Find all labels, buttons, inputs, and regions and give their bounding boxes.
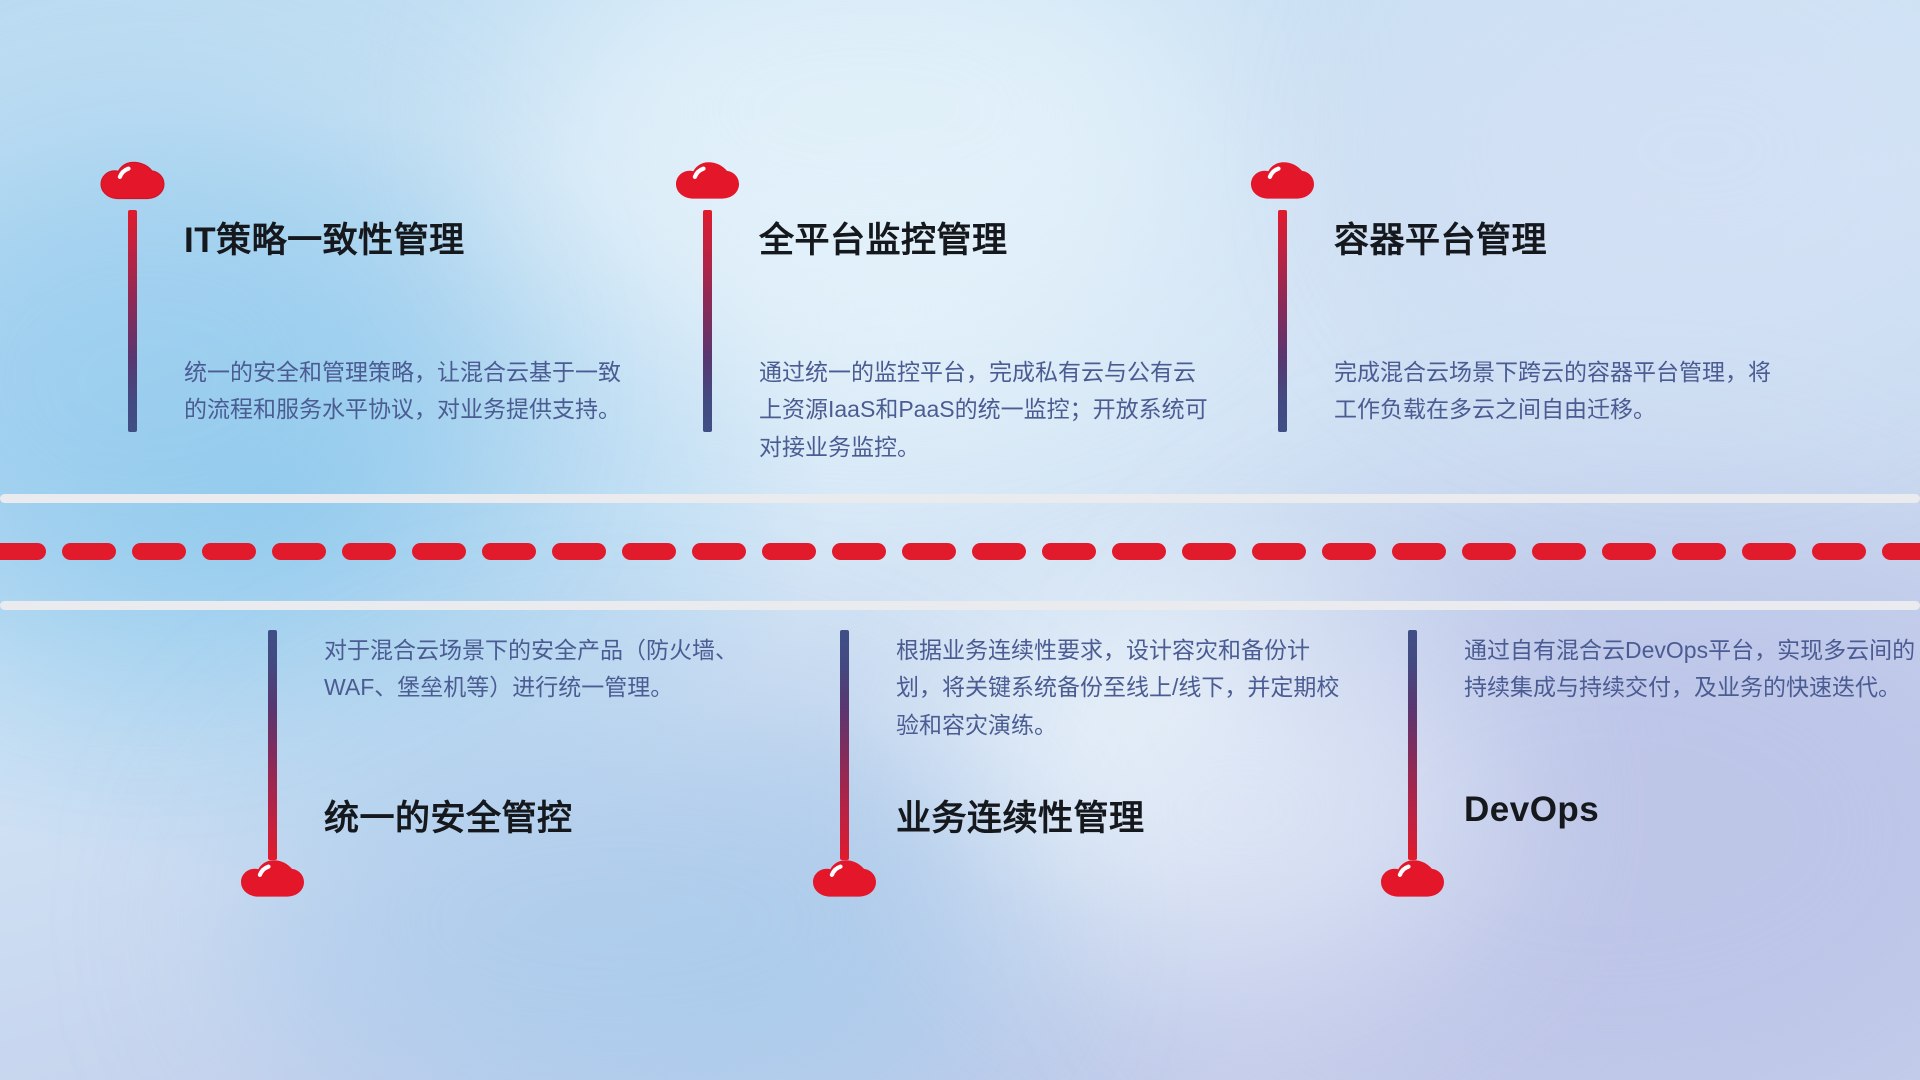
- road-dash-segment: [1812, 543, 1866, 560]
- cloud-pin-icon: [812, 858, 878, 914]
- road-dash-segment: [132, 543, 186, 560]
- road-dash-segment: [1532, 543, 1586, 560]
- cloud-pin-icon: [1380, 858, 1446, 914]
- road-center-dashed-line: [0, 543, 1920, 560]
- road-dash-segment: [1392, 543, 1446, 560]
- marker-title: 容器平台管理: [1334, 212, 1547, 263]
- marker-stem: [128, 210, 137, 432]
- marker-title: IT策略一致性管理: [184, 212, 465, 263]
- marker-description: 完成混合云场景下跨云的容器平台管理，将工作负载在多云之间自由迁移。: [1334, 354, 1789, 429]
- cloud-pin-icon: [675, 160, 741, 216]
- marker-title: DevOps: [1464, 790, 1599, 830]
- road-dash-segment: [482, 543, 536, 560]
- road-dash-segment: [692, 543, 746, 560]
- marker-description: 通过统一的监控平台，完成私有云与公有云上资源IaaS和PaaS的统一监控；开放系…: [759, 354, 1214, 466]
- cloud-pin-icon: [1250, 160, 1316, 216]
- road-dash-segment: [972, 543, 1026, 560]
- road-divider: [0, 0, 1920, 1080]
- road-dash-segment: [412, 543, 466, 560]
- marker-description: 统一的安全和管理策略，让混合云基于一致的流程和服务水平协议，对业务提供支持。: [184, 354, 639, 429]
- infographic-canvas: IT策略一致性管理 统一的安全和管理策略，让混合云基于一致的流程和服务水平协议，…: [0, 0, 1920, 1080]
- road-dash-segment: [202, 543, 256, 560]
- road-dash-segment: [342, 543, 396, 560]
- cloud-pin-icon: [240, 858, 306, 914]
- marker-description: 对于混合云场景下的安全产品（防火墙、WAF、堡垒机等）进行统一管理。: [324, 632, 779, 707]
- marker-description: 根据业务连续性要求，设计容灾和备份计划，将关键系统备份至线上/线下，并定期校验和…: [896, 632, 1351, 744]
- road-dash-segment: [762, 543, 816, 560]
- marker-stem: [703, 210, 712, 432]
- road-dash-segment: [1602, 543, 1656, 560]
- road-dash-segment: [1672, 543, 1726, 560]
- road-dash-segment: [832, 543, 886, 560]
- road-dash-segment: [62, 543, 116, 560]
- road-dash-segment: [1742, 543, 1796, 560]
- road-dash-segment: [1322, 543, 1376, 560]
- road-dash-segment: [272, 543, 326, 560]
- marker-title: 统一的安全管控: [324, 790, 573, 841]
- road-dash-segment: [1462, 543, 1516, 560]
- road-line-upper: [0, 494, 1920, 503]
- background-blob: [520, 0, 1220, 340]
- marker-title: 业务连续性管理: [896, 790, 1145, 841]
- background-blob: [1420, 0, 1920, 360]
- marker-description: 通过自有混合云DevOps平台，实现多云间的持续集成与持续交付，及业务的快速迭代…: [1464, 632, 1919, 707]
- road-dash-segment: [1182, 543, 1236, 560]
- marker-stem: [1278, 210, 1287, 432]
- road-dash-segment: [552, 543, 606, 560]
- road-dash-segment: [1882, 543, 1920, 560]
- cloud-pin-icon: [100, 160, 166, 216]
- road-line-lower: [0, 601, 1920, 610]
- road-dash-segment: [1042, 543, 1096, 560]
- marker-stem: [840, 630, 849, 860]
- road-dash-segment: [0, 543, 46, 560]
- marker-stem: [268, 630, 277, 860]
- marker-title: 全平台监控管理: [759, 212, 1008, 263]
- road-dash-segment: [902, 543, 956, 560]
- marker-stem: [1408, 630, 1417, 860]
- background-blob: [240, 700, 1000, 1080]
- road-dash-segment: [622, 543, 676, 560]
- road-dash-segment: [1252, 543, 1306, 560]
- road-dash-segment: [1112, 543, 1166, 560]
